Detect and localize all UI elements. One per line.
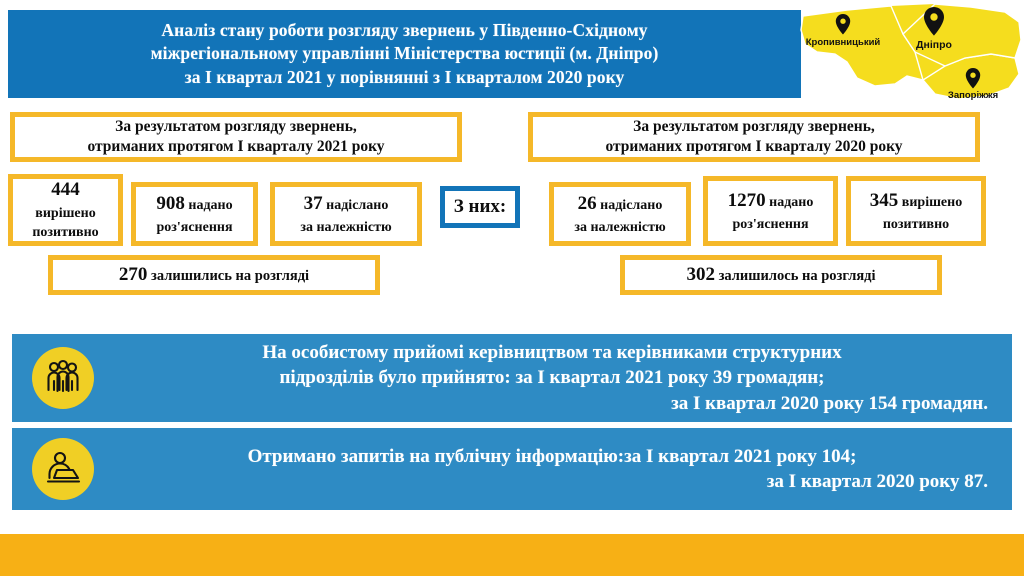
stat-box-left-2: 908 надано роз'яснення	[131, 182, 258, 246]
remaining-box-right: 302 залишилось на розгляді	[620, 255, 942, 295]
remaining-label: залишилось на розгляді	[719, 268, 876, 284]
map-landmass-shape	[801, 4, 1021, 99]
right-group-caption-box: За результатом розгляду звернень, отрима…	[528, 112, 980, 162]
header-line-1: Аналіз стану роботи розгляду звернень у …	[151, 19, 659, 42]
stat-line-2: роз'яснення	[728, 215, 814, 235]
stat-line-1: надано	[188, 198, 232, 213]
panel-reception-line-3: за I квартал 2020 року 154 громадян.	[108, 391, 996, 416]
panel-requests-line-1: Отримано запитів на публічну інформацію:…	[108, 444, 996, 469]
stat-line-1: надіслано	[326, 198, 388, 213]
divider-label-box: З них:	[440, 186, 520, 228]
stat-line-2: за належністю	[574, 218, 665, 238]
remaining-number: 302	[686, 264, 715, 285]
three-people-icon	[32, 347, 94, 409]
stat-number: 444	[32, 177, 98, 204]
map-city-label-dnipro: Дніпро	[916, 39, 952, 51]
stat-box-left-1: 444 вирішено позитивно	[8, 174, 123, 246]
map-city-label-kropyvnytskyi: Кропивницький	[806, 37, 881, 48]
panel-requests-line-2: за I квартал 2020 року 87.	[108, 469, 996, 494]
stat-line-2: за належністю	[300, 218, 391, 238]
remaining-number: 270	[119, 264, 148, 285]
stat-box-right-3: 345 вирішено позитивно	[846, 176, 986, 246]
panel-reception-line-1: На особистому прийомі керівництвом та ке…	[108, 340, 996, 365]
map-city-label-zaporizhzhia: Запоріжжя	[948, 90, 998, 101]
header-line-2: міжрегіональному управлінні Міністерства…	[151, 42, 659, 65]
stat-box-left-3: 37 надіслано за належністю	[270, 182, 422, 246]
region-map: Кропивницький Дніпро Запоріжжя	[795, 0, 1024, 102]
stat-line-1: надіслано	[600, 198, 662, 213]
panel-requests-text: Отримано запитів на публічну інформацію:…	[108, 444, 1012, 495]
header-banner: Аналіз стану роботи розгляду звернень у …	[8, 10, 801, 98]
stat-line-2: роз'яснення	[156, 218, 232, 238]
panel-reception-text: На особистому прийомі керівництвом та ке…	[108, 340, 1012, 416]
divider-label: З них:	[454, 196, 507, 218]
remaining-label: залишились на розгляді	[151, 268, 309, 284]
stat-line-1: вирішено	[32, 204, 98, 224]
left-caption-line-1: За результатом розгляду звернень,	[87, 117, 384, 137]
panel-reception-line-2: підрозділів було прийнято: за I квартал …	[108, 365, 996, 390]
stat-number: 908	[156, 193, 185, 214]
panel-personal-reception: На особистому прийомі керівництвом та ке…	[12, 334, 1012, 422]
stat-number: 1270	[728, 190, 766, 211]
panel-public-information-requests: Отримано запитів на публічну інформацію:…	[12, 428, 1012, 510]
right-caption-line-2: отриманих протягом I кварталу 2020 року	[605, 137, 902, 157]
page-title: Аналіз стану роботи розгляду звернень у …	[141, 19, 669, 88]
stat-box-right-1: 26 надіслано за належністю	[549, 182, 691, 246]
remaining-box-left: 270 залишились на розгляді	[48, 255, 380, 295]
stat-number: 26	[578, 193, 597, 214]
header-line-3: за I квартал 2021 у порівнянні з I кварт…	[151, 66, 659, 89]
stat-line-1: надано	[769, 195, 813, 210]
stat-number: 37	[304, 193, 323, 214]
right-caption-line-1: За результатом розгляду звернень,	[605, 117, 902, 137]
stat-line-2: позитивно	[870, 215, 962, 235]
bottom-accent-strip	[0, 534, 1024, 576]
stat-number: 345	[870, 190, 899, 211]
left-group-caption-box: За результатом розгляду звернень, отрима…	[10, 112, 462, 162]
stat-line-2: позитивно	[32, 223, 98, 243]
infographic-canvas: Аналіз стану роботи розгляду звернень у …	[0, 0, 1024, 576]
stat-line-1: вирішено	[902, 195, 962, 210]
left-caption-line-2: отриманих протягом I кварталу 2021 року	[87, 137, 384, 157]
person-at-laptop-icon	[32, 438, 94, 500]
stat-box-right-2: 1270 надано роз'яснення	[703, 176, 838, 246]
